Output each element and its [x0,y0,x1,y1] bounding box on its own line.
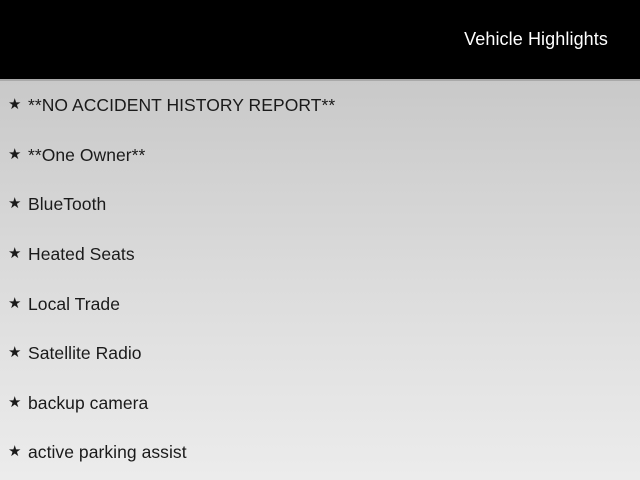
highlights-panel: ★ **NO ACCIDENT HISTORY REPORT** ★ **One… [0,81,640,480]
star-icon: ★ [8,246,28,261]
star-icon: ★ [8,97,28,112]
star-icon: ★ [8,296,28,311]
list-item: ★ active parking assist [0,428,640,478]
list-item: ★ Local Trade [0,279,640,329]
star-icon: ★ [8,444,28,459]
list-item-label: Satellite Radio [28,343,142,364]
list-item: ★ backup camera [0,379,640,429]
list-item-label: BlueTooth [28,194,106,215]
list-item-label: Local Trade [28,294,120,315]
star-icon: ★ [8,196,28,211]
list-item: ★ BlueTooth [0,180,640,230]
list-item-label: Heated Seats [28,244,135,265]
list-item-label: active parking assist [28,442,187,463]
list-item-label: **One Owner** [28,145,145,166]
star-icon: ★ [8,147,28,162]
list-item: ★ Heated Seats [0,230,640,280]
list-item-label: backup camera [28,393,148,414]
vehicle-highlights-page: Vehicle Highlights ★ **NO ACCIDENT HISTO… [0,0,640,480]
star-icon: ★ [8,395,28,410]
list-item: ★ **One Owner** [0,131,640,181]
header-bar: Vehicle Highlights [0,0,640,79]
highlights-list: ★ **NO ACCIDENT HISTORY REPORT** ★ **One… [0,81,640,478]
list-item: ★ **NO ACCIDENT HISTORY REPORT** [0,81,640,131]
star-icon: ★ [8,345,28,360]
list-item: ★ Satellite Radio [0,329,640,379]
page-title: Vehicle Highlights [464,30,608,50]
list-item-label: **NO ACCIDENT HISTORY REPORT** [28,95,335,116]
